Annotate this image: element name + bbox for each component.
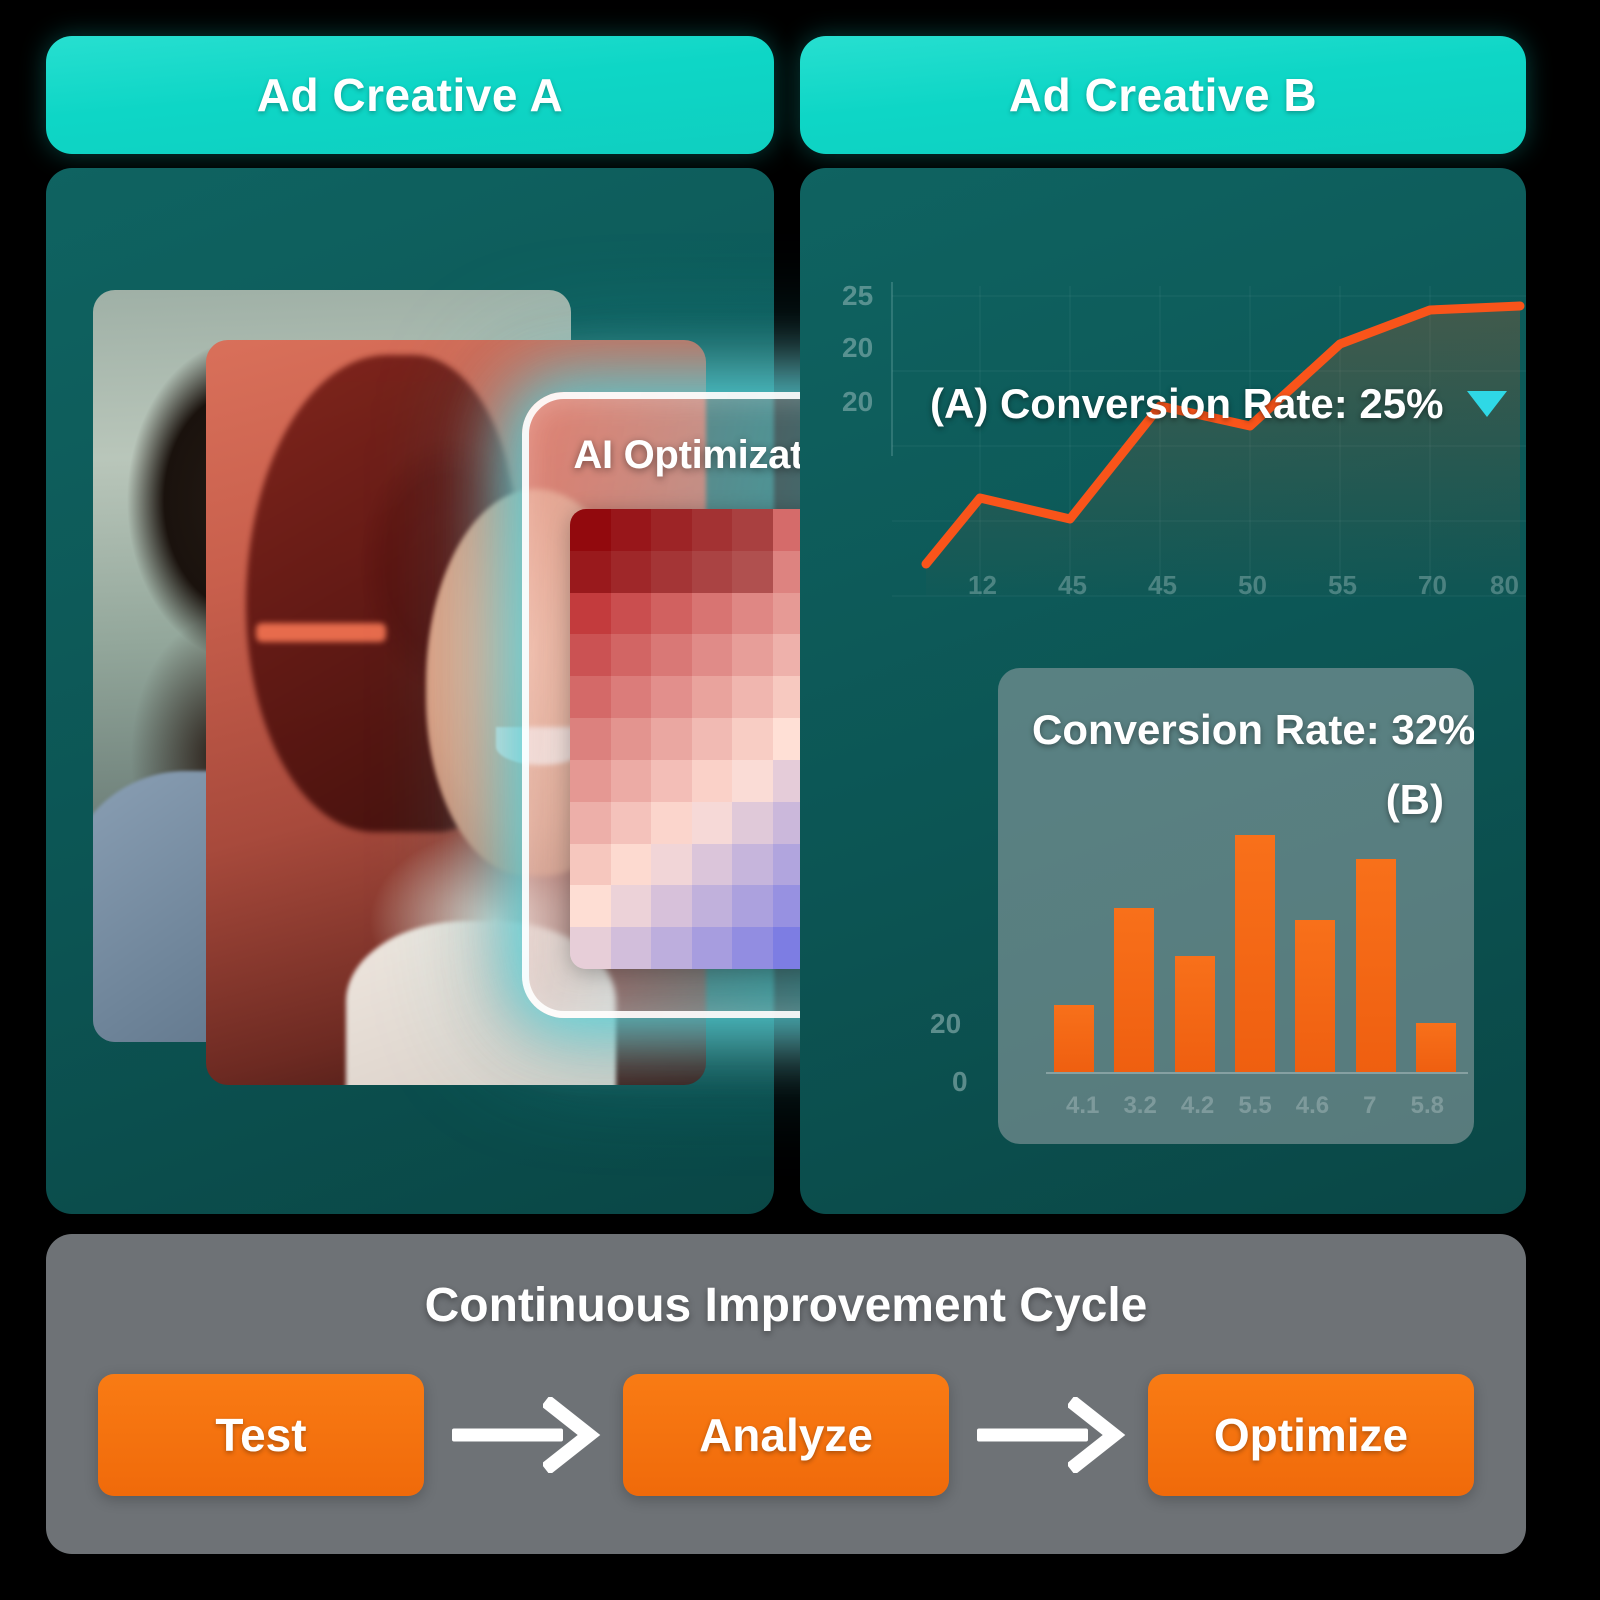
heatmap-cell [651,760,692,802]
cycle-step-optimize[interactable]: Optimize [1148,1374,1474,1496]
arrow-right-icon [424,1374,623,1496]
heatmap-cell [651,927,692,969]
heatmap-cell [651,551,692,593]
heatmap-cell [732,927,773,969]
heatmap-cell [692,634,733,676]
heatmap-cell [692,927,733,969]
bar-chart-xtick: 7 [1363,1092,1376,1120]
neon-light-shape [256,623,386,642]
heatmap-cell [611,676,652,718]
line-xtick-2: 45 [1148,570,1177,601]
line-ytick-0: 25 [842,280,873,312]
bar-chart-bar [1295,920,1335,1072]
bar-chart-bar [1356,859,1396,1072]
tab-ad-creative-a-label: Ad Creative A [257,68,563,122]
bar-chart-bar [1175,956,1215,1072]
bar-chart-xtick: 4.6 [1296,1092,1329,1120]
heatmap-cell [692,718,733,760]
line-chart-area [926,306,1520,596]
heatmap-cell [732,760,773,802]
line-xtick-6: 80 [1490,570,1519,601]
heatmap-cell [692,760,733,802]
heatmap-cell [651,844,692,886]
cycle-step-test-label: Test [215,1408,306,1462]
heatmap-cell [651,676,692,718]
heatmap-cell [611,718,652,760]
heatmap-cell [692,509,733,551]
tab-ad-creative-b-label: Ad Creative B [1009,68,1317,122]
bar-chart-xtick: 3.2 [1123,1092,1156,1120]
heatmap-cell [651,634,692,676]
heatmap-cell [732,676,773,718]
heatmap-cell [692,885,733,927]
tab-ad-creative-b[interactable]: Ad Creative B [800,36,1526,154]
line-xtick-0: 12 [968,570,997,601]
conversion-rate-b-label: Conversion Rate: 32% [1032,706,1474,754]
heatmap-cell [570,844,611,886]
bar-chart-bar [1235,835,1275,1072]
heatmap-cell [570,593,611,635]
heatmap-cell [611,802,652,844]
heatmap-cell [732,634,773,676]
heatmap-cell [611,593,652,635]
panel-ad-creative-b: 25 20 20 12 45 45 50 55 70 80 (A) Conver… [800,168,1526,1214]
bar-chart-bar [1054,1005,1094,1072]
bar-chart-bar [1114,908,1154,1072]
heatmap-cell [732,718,773,760]
conversion-rate-a-metric[interactable]: (A) Conversion Rate: 25% [930,380,1507,428]
infographic-root: Ad Creative A Ad Creative B AI Optimizat… [0,0,1600,1600]
heatmap-cell [732,551,773,593]
heatmap-cell [692,551,733,593]
bar-chart-xtick: 4.1 [1066,1092,1099,1120]
heatmap-cell [570,760,611,802]
heatmap-cell [651,802,692,844]
line-xtick-3: 50 [1238,570,1267,601]
heatmap-cell [611,885,652,927]
cycle-steps-row: Test Analyze Optimize [98,1374,1474,1496]
line-ytick-2: 20 [842,386,873,418]
heatmap-cell [732,802,773,844]
line-xtick-1: 45 [1058,570,1087,601]
heatmap-cell [570,802,611,844]
heatmap-cell [651,509,692,551]
heatmap-cell [651,593,692,635]
bar-chart-xtick: 4.2 [1181,1092,1214,1120]
line-xtick-5: 70 [1418,570,1447,601]
arrow-head [543,1397,603,1473]
cycle-step-analyze[interactable]: Analyze [623,1374,949,1496]
heatmap-cell [692,844,733,886]
heatmap-cell [692,593,733,635]
heatmap-cell [611,760,652,802]
heatmap-cell [611,551,652,593]
heatmap-cell [570,551,611,593]
heatmap-cell [732,885,773,927]
line-ytick-1: 20 [842,332,873,364]
heatmap-cell [570,676,611,718]
heatmap-cell [692,802,733,844]
heatmap-cell [692,676,733,718]
heatmap-cell [611,509,652,551]
heatmap-cell [570,509,611,551]
continuous-improvement-cycle-panel: Continuous Improvement Cycle Test Analyz… [46,1234,1526,1554]
bar-chart-baseline [1046,1072,1468,1074]
cycle-title: Continuous Improvement Cycle [46,1278,1526,1333]
bar-chart-xtick: 5.5 [1238,1092,1271,1120]
heatmap-cell [570,885,611,927]
cycle-step-analyze-label: Analyze [699,1408,873,1462]
line-xtick-4: 55 [1328,570,1357,601]
heatmap-cell [570,927,611,969]
bar-chart-xtick: 5.8 [1411,1092,1444,1120]
arrow-head [1068,1397,1128,1473]
cycle-step-optimize-label: Optimize [1214,1408,1408,1462]
heatmap-cell [611,634,652,676]
bar-chart-bars [1054,798,1456,1072]
heatmap-cell [732,593,773,635]
heatmap-cell [570,718,611,760]
heatmap-cell [732,509,773,551]
heatmap-cell [732,844,773,886]
conversion-rate-bar-chart-card: Conversion Rate: 32% (B) 4.13.24.25.54.6… [998,668,1474,1144]
heatmap-cell [570,634,611,676]
heatmap-cell [611,844,652,886]
chevron-down-icon[interactable] [1467,391,1507,417]
heatmap-cell [651,885,692,927]
heatmap-cell [611,927,652,969]
arrow-right-icon [949,1374,1148,1496]
tab-ad-creative-a[interactable]: Ad Creative A [46,36,774,154]
cycle-step-test[interactable]: Test [98,1374,424,1496]
conversion-rate-a-label: (A) Conversion Rate: 25% [930,380,1443,428]
bar-chart-bar [1416,1023,1456,1072]
heatmap-cell [651,718,692,760]
